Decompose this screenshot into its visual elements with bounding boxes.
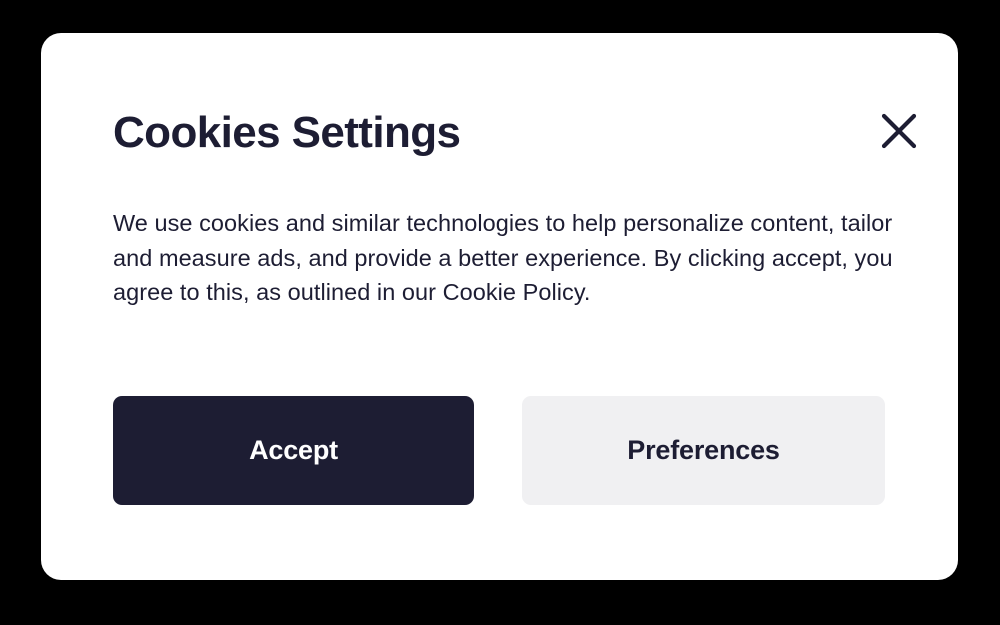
dialog-body-text: We use cookies and similar technologies … xyxy=(113,206,897,310)
accept-button[interactable]: Accept xyxy=(113,396,474,505)
page-title: Cookies Settings xyxy=(113,105,460,161)
cookies-settings-dialog: Cookies Settings We use cookies and simi… xyxy=(41,33,958,580)
dialog-actions: Accept Preferences xyxy=(113,396,885,505)
screen: Cookies Settings We use cookies and simi… xyxy=(0,0,1000,625)
preferences-button[interactable]: Preferences xyxy=(522,396,885,505)
dialog-header: Cookies Settings xyxy=(113,105,923,163)
close-icon xyxy=(880,112,918,150)
close-button[interactable] xyxy=(875,107,923,155)
